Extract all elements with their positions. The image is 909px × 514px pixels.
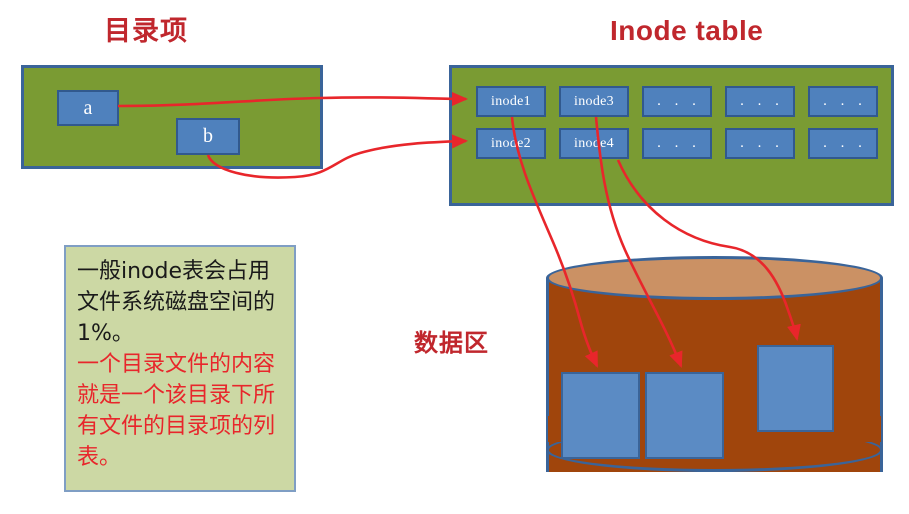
inode-cell-inode4[interactable]: inode4	[559, 128, 629, 159]
inode-cell-inode3[interactable]: inode3	[559, 86, 629, 117]
note-line-4: 一个目录文件的内容	[77, 349, 286, 380]
inode-cell-r1c4[interactable]: . . .	[725, 86, 795, 117]
note-box: 一般inode表会占用 文件系统磁盘空间的 1%。 一个目录文件的内容 就是一个…	[64, 245, 296, 492]
directory-entry-a[interactable]: a	[57, 90, 119, 126]
inode-cell-inode2[interactable]: inode2	[476, 128, 546, 159]
inode-cell-inode1[interactable]: inode1	[476, 86, 546, 117]
inode-cell-r1c3[interactable]: . . .	[642, 86, 712, 117]
inode-cell-r2c4[interactable]: . . .	[725, 128, 795, 159]
note-line-6: 有文件的目录项的列	[77, 411, 286, 442]
directory-entry-title: 目录项	[104, 18, 188, 45]
data-block-2[interactable]	[645, 372, 724, 459]
inode-cell-r2c3[interactable]: . . .	[642, 128, 712, 159]
data-block-3[interactable]	[757, 345, 834, 432]
cylinder-top-ellipse	[546, 256, 883, 300]
inode-cell-r1c5[interactable]: . . .	[808, 86, 878, 117]
data-zone-title: 数据区	[414, 332, 489, 356]
diagram-canvas: 目录项 Inode table 数据区 a b inode1 inode3 . …	[0, 0, 909, 514]
directory-entry-b[interactable]: b	[176, 118, 240, 155]
note-line-2: 文件系统磁盘空间的	[77, 287, 286, 318]
inode-cell-r2c5[interactable]: . . .	[808, 128, 878, 159]
inode-table-title: Inode table	[610, 17, 763, 45]
note-line-1: 一般inode表会占用	[77, 256, 286, 287]
note-line-7: 表。	[77, 442, 286, 473]
note-line-3: 1%。	[77, 318, 286, 349]
note-line-5: 就是一个该目录下所	[77, 380, 286, 411]
data-block-1[interactable]	[561, 372, 640, 459]
